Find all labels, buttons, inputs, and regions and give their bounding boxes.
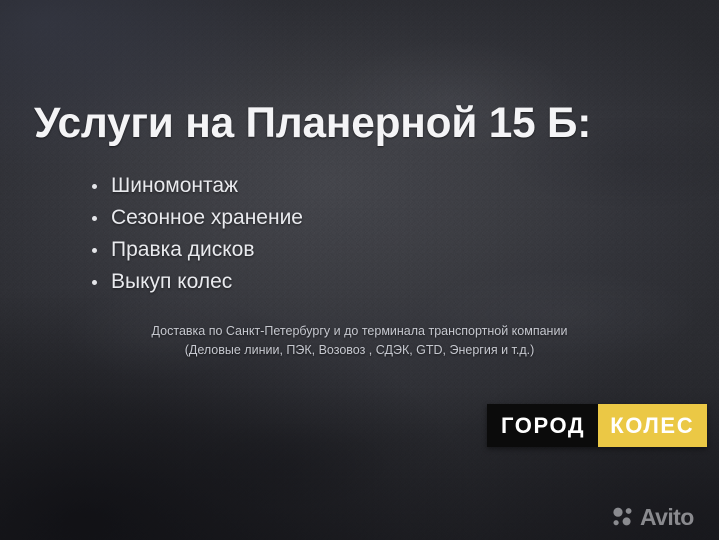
- avito-watermark: Avito: [611, 505, 694, 529]
- delivery-note: Доставка по Санкт-Петербургу и до термин…: [0, 322, 719, 360]
- logo-word-koles: КОЛЕС: [598, 404, 707, 447]
- service-label: Правка дисков: [111, 238, 255, 261]
- list-item: Выкуп колес: [88, 266, 303, 298]
- brand-logo: ГОРОД КОЛЕС: [487, 404, 707, 447]
- service-label: Выкуп колес: [111, 270, 232, 293]
- list-item: Сезонное хранение: [88, 202, 303, 234]
- service-label: Сезонное хранение: [111, 206, 303, 229]
- avito-dots-icon: [611, 505, 635, 529]
- logo-word-gorod: ГОРОД: [487, 404, 598, 447]
- bullet-icon: [92, 248, 97, 253]
- avito-watermark-label: Avito: [640, 506, 694, 529]
- bullet-icon: [92, 216, 97, 221]
- poster-content: Услуги на Планерной 15 Б: Шиномонтаж Сез…: [0, 0, 719, 540]
- delivery-line-1: Доставка по Санкт-Петербургу и до термин…: [152, 324, 568, 338]
- bullet-icon: [92, 280, 97, 285]
- list-item: Правка дисков: [88, 234, 303, 266]
- page-title: Услуги на Планерной 15 Б:: [34, 98, 684, 148]
- delivery-line-2: (Деловые линии, ПЭК, Возовоз , СДЭК, GTD…: [0, 341, 719, 360]
- list-item: Шиномонтаж: [88, 170, 303, 202]
- services-list: Шиномонтаж Сезонное хранение Правка диск…: [88, 170, 303, 298]
- bullet-icon: [92, 184, 97, 189]
- service-label: Шиномонтаж: [111, 174, 238, 197]
- chalkboard-poster: Услуги на Планерной 15 Б: Шиномонтаж Сез…: [0, 0, 719, 540]
